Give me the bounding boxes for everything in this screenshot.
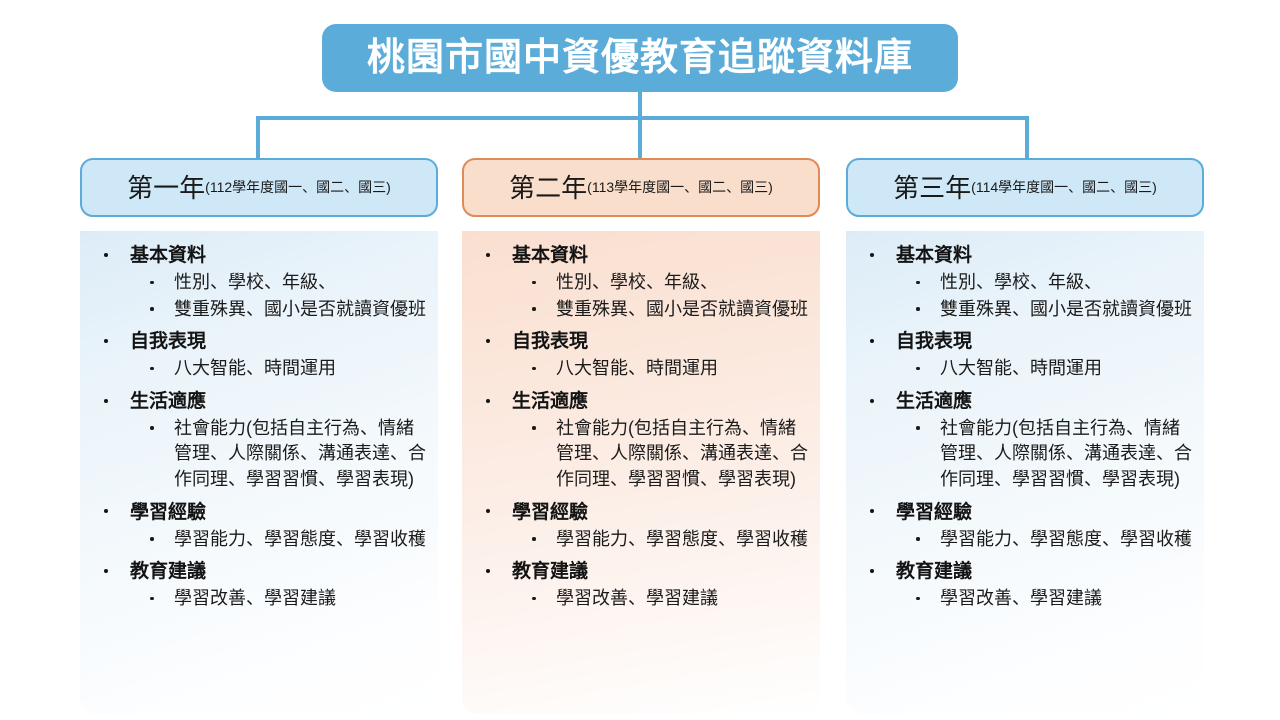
- section-basic-info: 基本資料 性別、學校、年級、 雙重殊異、國小是否就讀資優班: [470, 243, 812, 322]
- section-label: 學習經驗: [512, 502, 588, 523]
- detail-item: 性別、學校、年級、: [512, 270, 812, 296]
- year-2-section-list: 基本資料 性別、學校、年級、 雙重殊異、國小是否就讀資優班: [470, 243, 812, 612]
- detail-label: 性別、學校、年級、: [174, 272, 336, 292]
- year-1-body: 基本資料 性別、學校、年級、 雙重殊異、國小是否就讀資優班: [80, 231, 438, 714]
- section-detail-list: 學習改善、學習建議: [896, 586, 1196, 612]
- section-learning-experience: 學習經驗 學習能力、學習態度、學習收穫: [88, 500, 430, 553]
- section-label: 自我表現: [512, 331, 588, 352]
- detail-item: 雙重殊異、國小是否就讀資優班: [130, 297, 430, 323]
- detail-label: 社會能力(包括自主行為、情緒管理、人際關係、溝通表達、合作同理、學習習慣、學習表…: [556, 416, 812, 493]
- section-detail-list: 八大智能、時間運用: [512, 356, 812, 382]
- section-basic-info: 基本資料 性別、學校、年級、 雙重殊異、國小是否就讀資優班: [88, 243, 430, 322]
- connector-drop-center: [638, 116, 642, 160]
- bullet-icon: [532, 281, 536, 285]
- diagram-canvas: 桃園市國中資優教育追蹤資料庫 第一年 (112學年度國一、國二、國三) 基本資料…: [0, 0, 1280, 720]
- section-detail-list: 學習改善、學習建議: [512, 586, 812, 612]
- section-detail-list: 學習能力、學習態度、學習收穫: [896, 527, 1196, 553]
- section-self-performance: 自我表現 八大智能、時間運用: [88, 329, 430, 382]
- detail-item: 八大智能、時間運用: [896, 356, 1196, 382]
- detail-label: 性別、學校、年級、: [940, 272, 1102, 292]
- year-3-subtitle: (114學年度國一、國二、國三): [971, 180, 1157, 195]
- connector-stem-vertical: [638, 92, 642, 118]
- year-2-title: 第二年: [509, 175, 587, 201]
- connector-horizontal-bar: [256, 116, 1029, 120]
- bullet-icon: [150, 537, 154, 541]
- section-basic-info: 基本資料 性別、學校、年級、 雙重殊異、國小是否就讀資優班: [854, 243, 1196, 322]
- bullet-icon: [870, 569, 874, 573]
- bullet-icon: [916, 281, 920, 285]
- bullet-icon: [486, 509, 490, 513]
- bullet-icon: [104, 339, 108, 343]
- section-label: 生活適應: [896, 391, 972, 412]
- section-detail-list: 八大智能、時間運用: [896, 356, 1196, 382]
- detail-item: 學習改善、學習建議: [130, 586, 430, 612]
- section-self-performance: 自我表現 八大智能、時間運用: [470, 329, 812, 382]
- year-3-title: 第三年: [893, 175, 971, 201]
- section-label: 學習經驗: [130, 502, 206, 523]
- bullet-icon: [916, 537, 920, 541]
- detail-item: 性別、學校、年級、: [130, 270, 430, 296]
- detail-label: 學習改善、學習建議: [556, 588, 718, 608]
- year-3-section-list: 基本資料 性別、學校、年級、 雙重殊異、國小是否就讀資優班: [854, 243, 1196, 612]
- diagram-title-box: 桃園市國中資優教育追蹤資料庫: [322, 24, 958, 92]
- bullet-icon: [870, 253, 874, 257]
- bullet-icon: [104, 509, 108, 513]
- diagram-title: 桃園市國中資優教育追蹤資料庫: [367, 39, 913, 77]
- section-detail-list: 社會能力(包括自主行為、情緒管理、人際關係、溝通表達、合作同理、學習習慣、學習表…: [512, 416, 812, 493]
- detail-item: 雙重殊異、國小是否就讀資優班: [512, 297, 812, 323]
- section-detail-list: 八大智能、時間運用: [130, 356, 430, 382]
- year-1-section-list: 基本資料 性別、學校、年級、 雙重殊異、國小是否就讀資優班: [88, 243, 430, 612]
- section-label: 教育建議: [512, 561, 588, 582]
- year-column-1: 第一年 (112學年度國一、國二、國三) 基本資料 性別、學校、年級、 雙重殊: [80, 158, 438, 714]
- year-1-header: 第一年 (112學年度國一、國二、國三): [80, 158, 438, 217]
- section-detail-list: 性別、學校、年級、 雙重殊異、國小是否就讀資優班: [512, 270, 812, 322]
- section-life-adaptation: 生活適應 社會能力(包括自主行為、情緒管理、人際關係、溝通表達、合作同理、學習習…: [470, 389, 812, 493]
- detail-label: 社會能力(包括自主行為、情緒管理、人際關係、溝通表達、合作同理、學習習慣、學習表…: [940, 416, 1196, 493]
- section-label: 自我表現: [896, 331, 972, 352]
- year-column-2: 第二年 (113學年度國一、國二、國三) 基本資料 性別、學校、年級、 雙重殊: [462, 158, 820, 714]
- year-2-header: 第二年 (113學年度國一、國二、國三): [462, 158, 820, 217]
- bullet-icon: [916, 307, 920, 311]
- section-label: 自我表現: [130, 331, 206, 352]
- section-label: 生活適應: [512, 391, 588, 412]
- bullet-icon: [870, 339, 874, 343]
- bullet-icon: [486, 569, 490, 573]
- section-life-adaptation: 生活適應 社會能力(包括自主行為、情緒管理、人際關係、溝通表達、合作同理、學習習…: [854, 389, 1196, 493]
- detail-item: 學習能力、學習態度、學習收穫: [130, 527, 430, 553]
- section-label: 基本資料: [130, 245, 206, 266]
- year-3-header: 第三年 (114學年度國一、國二、國三): [846, 158, 1204, 217]
- detail-label: 八大智能、時間運用: [556, 358, 718, 378]
- section-label: 基本資料: [896, 245, 972, 266]
- detail-label: 性別、學校、年級、: [556, 272, 718, 292]
- bullet-icon: [486, 339, 490, 343]
- detail-item: 學習能力、學習態度、學習收穫: [512, 527, 812, 553]
- section-education-advice: 教育建議 學習改善、學習建議: [854, 559, 1196, 612]
- section-education-advice: 教育建議 學習改善、學習建議: [88, 559, 430, 612]
- bullet-icon: [150, 281, 154, 285]
- bullet-icon: [486, 399, 490, 403]
- detail-label: 學習能力、學習態度、學習收穫: [174, 529, 426, 549]
- detail-label: 八大智能、時間運用: [174, 358, 336, 378]
- section-learning-experience: 學習經驗 學習能力、學習態度、學習收穫: [470, 500, 812, 553]
- bullet-icon: [150, 597, 154, 601]
- connector-drop-right: [1025, 116, 1029, 160]
- detail-label: 八大智能、時間運用: [940, 358, 1102, 378]
- year-2-subtitle: (113學年度國一、國二、國三): [587, 180, 773, 195]
- section-label: 基本資料: [512, 245, 588, 266]
- section-detail-list: 學習改善、學習建議: [130, 586, 430, 612]
- bullet-icon: [870, 509, 874, 513]
- detail-label: 學習能力、學習態度、學習收穫: [556, 529, 808, 549]
- section-detail-list: 學習能力、學習態度、學習收穫: [512, 527, 812, 553]
- bullet-icon: [532, 367, 536, 371]
- connector-drop-left: [256, 116, 260, 160]
- section-detail-list: 性別、學校、年級、 雙重殊異、國小是否就讀資優班: [896, 270, 1196, 322]
- bullet-icon: [104, 253, 108, 257]
- bullet-icon: [104, 399, 108, 403]
- section-self-performance: 自我表現 八大智能、時間運用: [854, 329, 1196, 382]
- section-education-advice: 教育建議 學習改善、學習建議: [470, 559, 812, 612]
- bullet-icon: [150, 426, 154, 430]
- section-detail-list: 性別、學校、年級、 雙重殊異、國小是否就讀資優班: [130, 270, 430, 322]
- section-label: 生活適應: [130, 391, 206, 412]
- bullet-icon: [916, 426, 920, 430]
- year-1-subtitle: (112學年度國一、國二、國三): [205, 180, 391, 195]
- bullet-icon: [104, 569, 108, 573]
- detail-label: 學習能力、學習態度、學習收穫: [940, 529, 1192, 549]
- year-2-body: 基本資料 性別、學校、年級、 雙重殊異、國小是否就讀資優班: [462, 231, 820, 714]
- bullet-icon: [532, 307, 536, 311]
- detail-item: 學習改善、學習建議: [896, 586, 1196, 612]
- year-1-title: 第一年: [127, 175, 205, 201]
- detail-label: 雙重殊異、國小是否就讀資優班: [940, 299, 1192, 319]
- detail-item: 雙重殊異、國小是否就讀資優班: [896, 297, 1196, 323]
- bullet-icon: [486, 253, 490, 257]
- bullet-icon: [150, 367, 154, 371]
- section-life-adaptation: 生活適應 社會能力(包括自主行為、情緒管理、人際關係、溝通表達、合作同理、學習習…: [88, 389, 430, 493]
- section-learning-experience: 學習經驗 學習能力、學習態度、學習收穫: [854, 500, 1196, 553]
- bullet-icon: [150, 307, 154, 311]
- detail-label: 雙重殊異、國小是否就讀資優班: [174, 299, 426, 319]
- detail-item: 學習改善、學習建議: [512, 586, 812, 612]
- detail-label: 學習改善、學習建議: [940, 588, 1102, 608]
- section-detail-list: 社會能力(包括自主行為、情緒管理、人際關係、溝通表達、合作同理、學習習慣、學習表…: [130, 416, 430, 493]
- detail-item: 社會能力(包括自主行為、情緒管理、人際關係、溝通表達、合作同理、學習習慣、學習表…: [130, 416, 430, 493]
- bullet-icon: [532, 537, 536, 541]
- detail-item: 社會能力(包括自主行為、情緒管理、人際關係、溝通表達、合作同理、學習習慣、學習表…: [512, 416, 812, 493]
- detail-label: 雙重殊異、國小是否就讀資優班: [556, 299, 808, 319]
- detail-item: 八大智能、時間運用: [512, 356, 812, 382]
- year-column-3: 第三年 (114學年度國一、國二、國三) 基本資料 性別、學校、年級、 雙重殊: [846, 158, 1204, 714]
- bullet-icon: [916, 597, 920, 601]
- section-label: 教育建議: [130, 561, 206, 582]
- year-3-body: 基本資料 性別、學校、年級、 雙重殊異、國小是否就讀資優班: [846, 231, 1204, 714]
- section-detail-list: 社會能力(包括自主行為、情緒管理、人際關係、溝通表達、合作同理、學習習慣、學習表…: [896, 416, 1196, 493]
- bullet-icon: [532, 426, 536, 430]
- detail-item: 性別、學校、年級、: [896, 270, 1196, 296]
- detail-item: 八大智能、時間運用: [130, 356, 430, 382]
- detail-item: 社會能力(包括自主行為、情緒管理、人際關係、溝通表達、合作同理、學習習慣、學習表…: [896, 416, 1196, 493]
- detail-label: 社會能力(包括自主行為、情緒管理、人際關係、溝通表達、合作同理、學習習慣、學習表…: [174, 416, 430, 493]
- detail-label: 學習改善、學習建議: [174, 588, 336, 608]
- bullet-icon: [870, 399, 874, 403]
- section-detail-list: 學習能力、學習態度、學習收穫: [130, 527, 430, 553]
- bullet-icon: [532, 597, 536, 601]
- section-label: 教育建議: [896, 561, 972, 582]
- detail-item: 學習能力、學習態度、學習收穫: [896, 527, 1196, 553]
- section-label: 學習經驗: [896, 502, 972, 523]
- bullet-icon: [916, 367, 920, 371]
